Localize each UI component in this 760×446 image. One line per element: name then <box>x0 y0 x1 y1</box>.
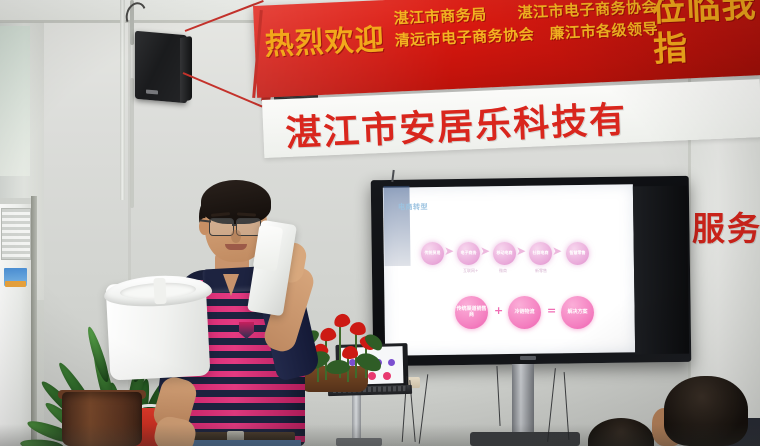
presenter-nose <box>231 230 241 243</box>
slide-equation-circle: 传统渠道销售商 <box>455 296 488 329</box>
slide-equation-operator: = <box>547 304 556 317</box>
window-light <box>0 26 30 176</box>
slide-flow-caption: 互联网+ <box>463 268 478 274</box>
slide-flow-arrow-icon: ➤ <box>444 244 454 258</box>
air-conditioner-vents-icon <box>1 208 31 260</box>
slide-equation-circle: 解决方案 <box>561 296 594 329</box>
slide-flow-circle: 移动电商 <box>493 242 516 265</box>
slide-flow-arrow-icon: ➤ <box>552 244 562 258</box>
foam-container-notch <box>153 278 166 305</box>
tv-brand-logo <box>520 356 536 360</box>
slide-equation-circle: 冷链物流 <box>508 296 541 329</box>
slide-flow-circle: 电子商务 <box>457 242 480 265</box>
service-word-text: 服务 <box>692 202 760 250</box>
slide-flow-arrow-icon: ➤ <box>516 244 526 258</box>
floor-shadow <box>0 424 760 446</box>
slide-flow-circle: 智慧零售 <box>566 242 589 265</box>
tv-screen-reflection <box>383 186 410 266</box>
photo-scene: 热烈欢迎 湛江市商务局 湛江市电子商务协会 清远市电子商务协会 廉江市各级领导 … <box>0 0 760 446</box>
banner-welcome-text: 热烈欢迎 <box>264 24 395 60</box>
slide-flow-circle: 社群电商 <box>529 242 552 265</box>
slide-title-text: 电商转型 <box>398 202 428 212</box>
ceiling-seam <box>0 20 290 23</box>
air-conditioner-badge <box>5 281 26 287</box>
shirt-stripe <box>177 397 305 403</box>
slide-flow-caption: 微商 <box>499 268 507 274</box>
speaker-side-panel <box>180 36 192 102</box>
slide-flow-caption: 新零售 <box>535 268 547 274</box>
slide-flow-arrow-icon: ➤ <box>480 244 490 258</box>
presenter-mouth <box>225 244 247 250</box>
tv-dark-area <box>633 186 689 355</box>
ceiling-conduit-lower <box>130 78 134 208</box>
shirt-stripe <box>177 384 305 390</box>
slide-flow-circle: 传统贸易 <box>421 242 444 265</box>
shirt-stripe <box>177 410 305 416</box>
eyeglass-bridge <box>232 224 237 226</box>
air-conditioner-top <box>0 198 33 204</box>
slide-equation-operator: + <box>494 304 503 317</box>
banner-tail-text: 莅临我司指 <box>651 0 760 70</box>
wall-corner-edge <box>120 0 125 200</box>
